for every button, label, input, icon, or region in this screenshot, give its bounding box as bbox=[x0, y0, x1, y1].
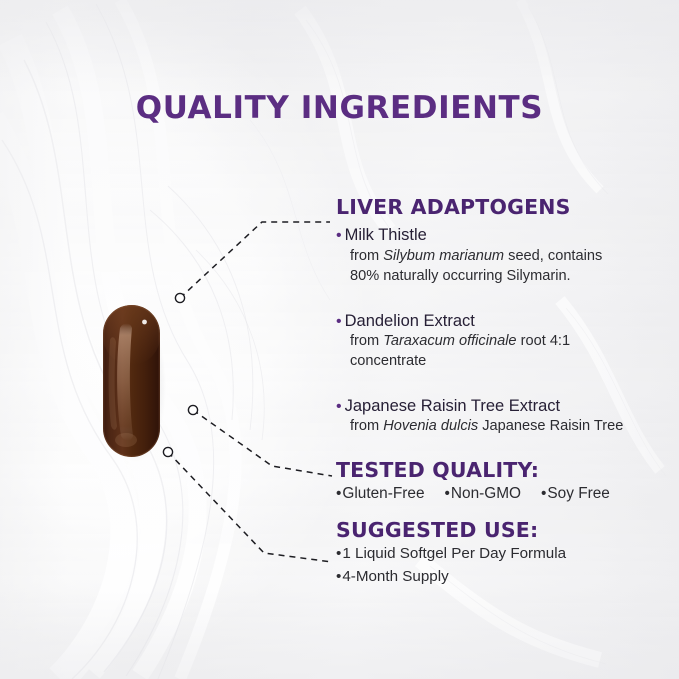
section-heading-tested-quality: TESTED QUALITY: bbox=[336, 459, 676, 482]
section-liver-adaptogens: LIVER ADAPTOGENS •Milk Thistle from Sily… bbox=[336, 196, 672, 436]
bullet-icon: • bbox=[336, 398, 342, 415]
certification-soy-free: •Soy Free bbox=[541, 485, 610, 502]
section-suggested-use: SUGGESTED USE: •1 Liquid Softgel Per Day… bbox=[336, 519, 676, 587]
infographic-canvas: QUALITY INGREDIENTS bbox=[0, 0, 679, 679]
ingredient-description-line: from Taraxacum officinale root 4:1 bbox=[350, 332, 672, 351]
ingredient-label: Japanese Raisin Tree Extract bbox=[345, 397, 561, 415]
usage-label: 4-Month Supply bbox=[342, 568, 448, 585]
spacer bbox=[336, 371, 672, 390]
certification-label: Gluten-Free bbox=[342, 485, 424, 502]
leader-line-liver-adaptogens bbox=[180, 222, 330, 298]
usage-line: •1 Liquid Softgel Per Day Formula bbox=[336, 544, 676, 564]
desc-pre: concentrate bbox=[350, 353, 426, 369]
desc-pre: from bbox=[350, 333, 383, 349]
latin-binomial: Taraxacum officinale bbox=[383, 333, 516, 349]
desc-pre: from bbox=[350, 418, 383, 434]
bullet-icon: • bbox=[336, 485, 341, 502]
latin-binomial: Hovenia dulcis bbox=[383, 418, 478, 434]
bullet-icon: • bbox=[445, 485, 450, 502]
latin-binomial: Silybum marianum bbox=[383, 248, 504, 264]
section-heading-liver-adaptogens: LIVER ADAPTOGENS bbox=[336, 196, 672, 219]
section-tested-quality: TESTED QUALITY: •Gluten-Free•Non-GMO•Soy… bbox=[336, 459, 676, 503]
ingredient-description-line: concentrate bbox=[350, 352, 672, 371]
certification-non-gmo: •Non-GMO bbox=[445, 485, 522, 502]
certification-label: Soy Free bbox=[547, 485, 609, 502]
ingredient-name: •Dandelion Extract bbox=[336, 312, 672, 332]
ingredient-name: •Japanese Raisin Tree Extract bbox=[336, 397, 672, 417]
leader-line-tested-quality bbox=[193, 410, 332, 476]
ingredient-label: Milk Thistle bbox=[345, 226, 427, 244]
leader-marker-tested-quality bbox=[188, 405, 197, 414]
ingredient-description-line: 80% naturally occurring Silymarin. bbox=[350, 267, 672, 286]
desc-pre: 80% naturally occurring Silymarin. bbox=[350, 268, 571, 284]
ingredient-description-line: from Silybum marianum seed, contains bbox=[350, 247, 672, 266]
spacer bbox=[336, 286, 672, 305]
certification-label: Non-GMO bbox=[451, 485, 521, 502]
ingredient-description-line: from Hovenia dulcis Japanese Raisin Tree bbox=[350, 417, 672, 436]
bullet-icon: • bbox=[336, 568, 341, 585]
certification-gluten-free: •Gluten-Free bbox=[336, 485, 425, 502]
section-heading-suggested-use: SUGGESTED USE: bbox=[336, 519, 676, 542]
desc-post: seed, contains bbox=[504, 248, 602, 264]
ingredient-item-japanese-raisin-tree-extract: •Japanese Raisin Tree Extract from Hoven… bbox=[336, 397, 672, 436]
desc-post: Japanese Raisin Tree bbox=[478, 418, 623, 434]
desc-pre: from bbox=[350, 248, 383, 264]
bullet-icon: • bbox=[541, 485, 546, 502]
leader-marker-suggested-use bbox=[163, 447, 172, 456]
bullet-icon: • bbox=[336, 227, 342, 244]
certification-list: •Gluten-Free•Non-GMO•Soy Free bbox=[336, 485, 676, 503]
leader-line-suggested-use bbox=[168, 452, 332, 562]
bullet-icon: • bbox=[336, 313, 342, 330]
ingredient-item-milk-thistle: •Milk Thistle from Silybum marianum seed… bbox=[336, 226, 672, 285]
ingredient-item-dandelion-extract: •Dandelion Extract from Taraxacum offici… bbox=[336, 312, 672, 371]
usage-line: •4-Month Supply bbox=[336, 567, 676, 587]
bullet-icon: • bbox=[336, 545, 341, 562]
desc-post: root 4:1 bbox=[517, 333, 571, 349]
leader-marker-liver-adaptogens bbox=[175, 293, 184, 302]
ingredient-name: •Milk Thistle bbox=[336, 226, 672, 246]
ingredient-label: Dandelion Extract bbox=[345, 312, 475, 330]
usage-label: 1 Liquid Softgel Per Day Formula bbox=[342, 545, 566, 562]
